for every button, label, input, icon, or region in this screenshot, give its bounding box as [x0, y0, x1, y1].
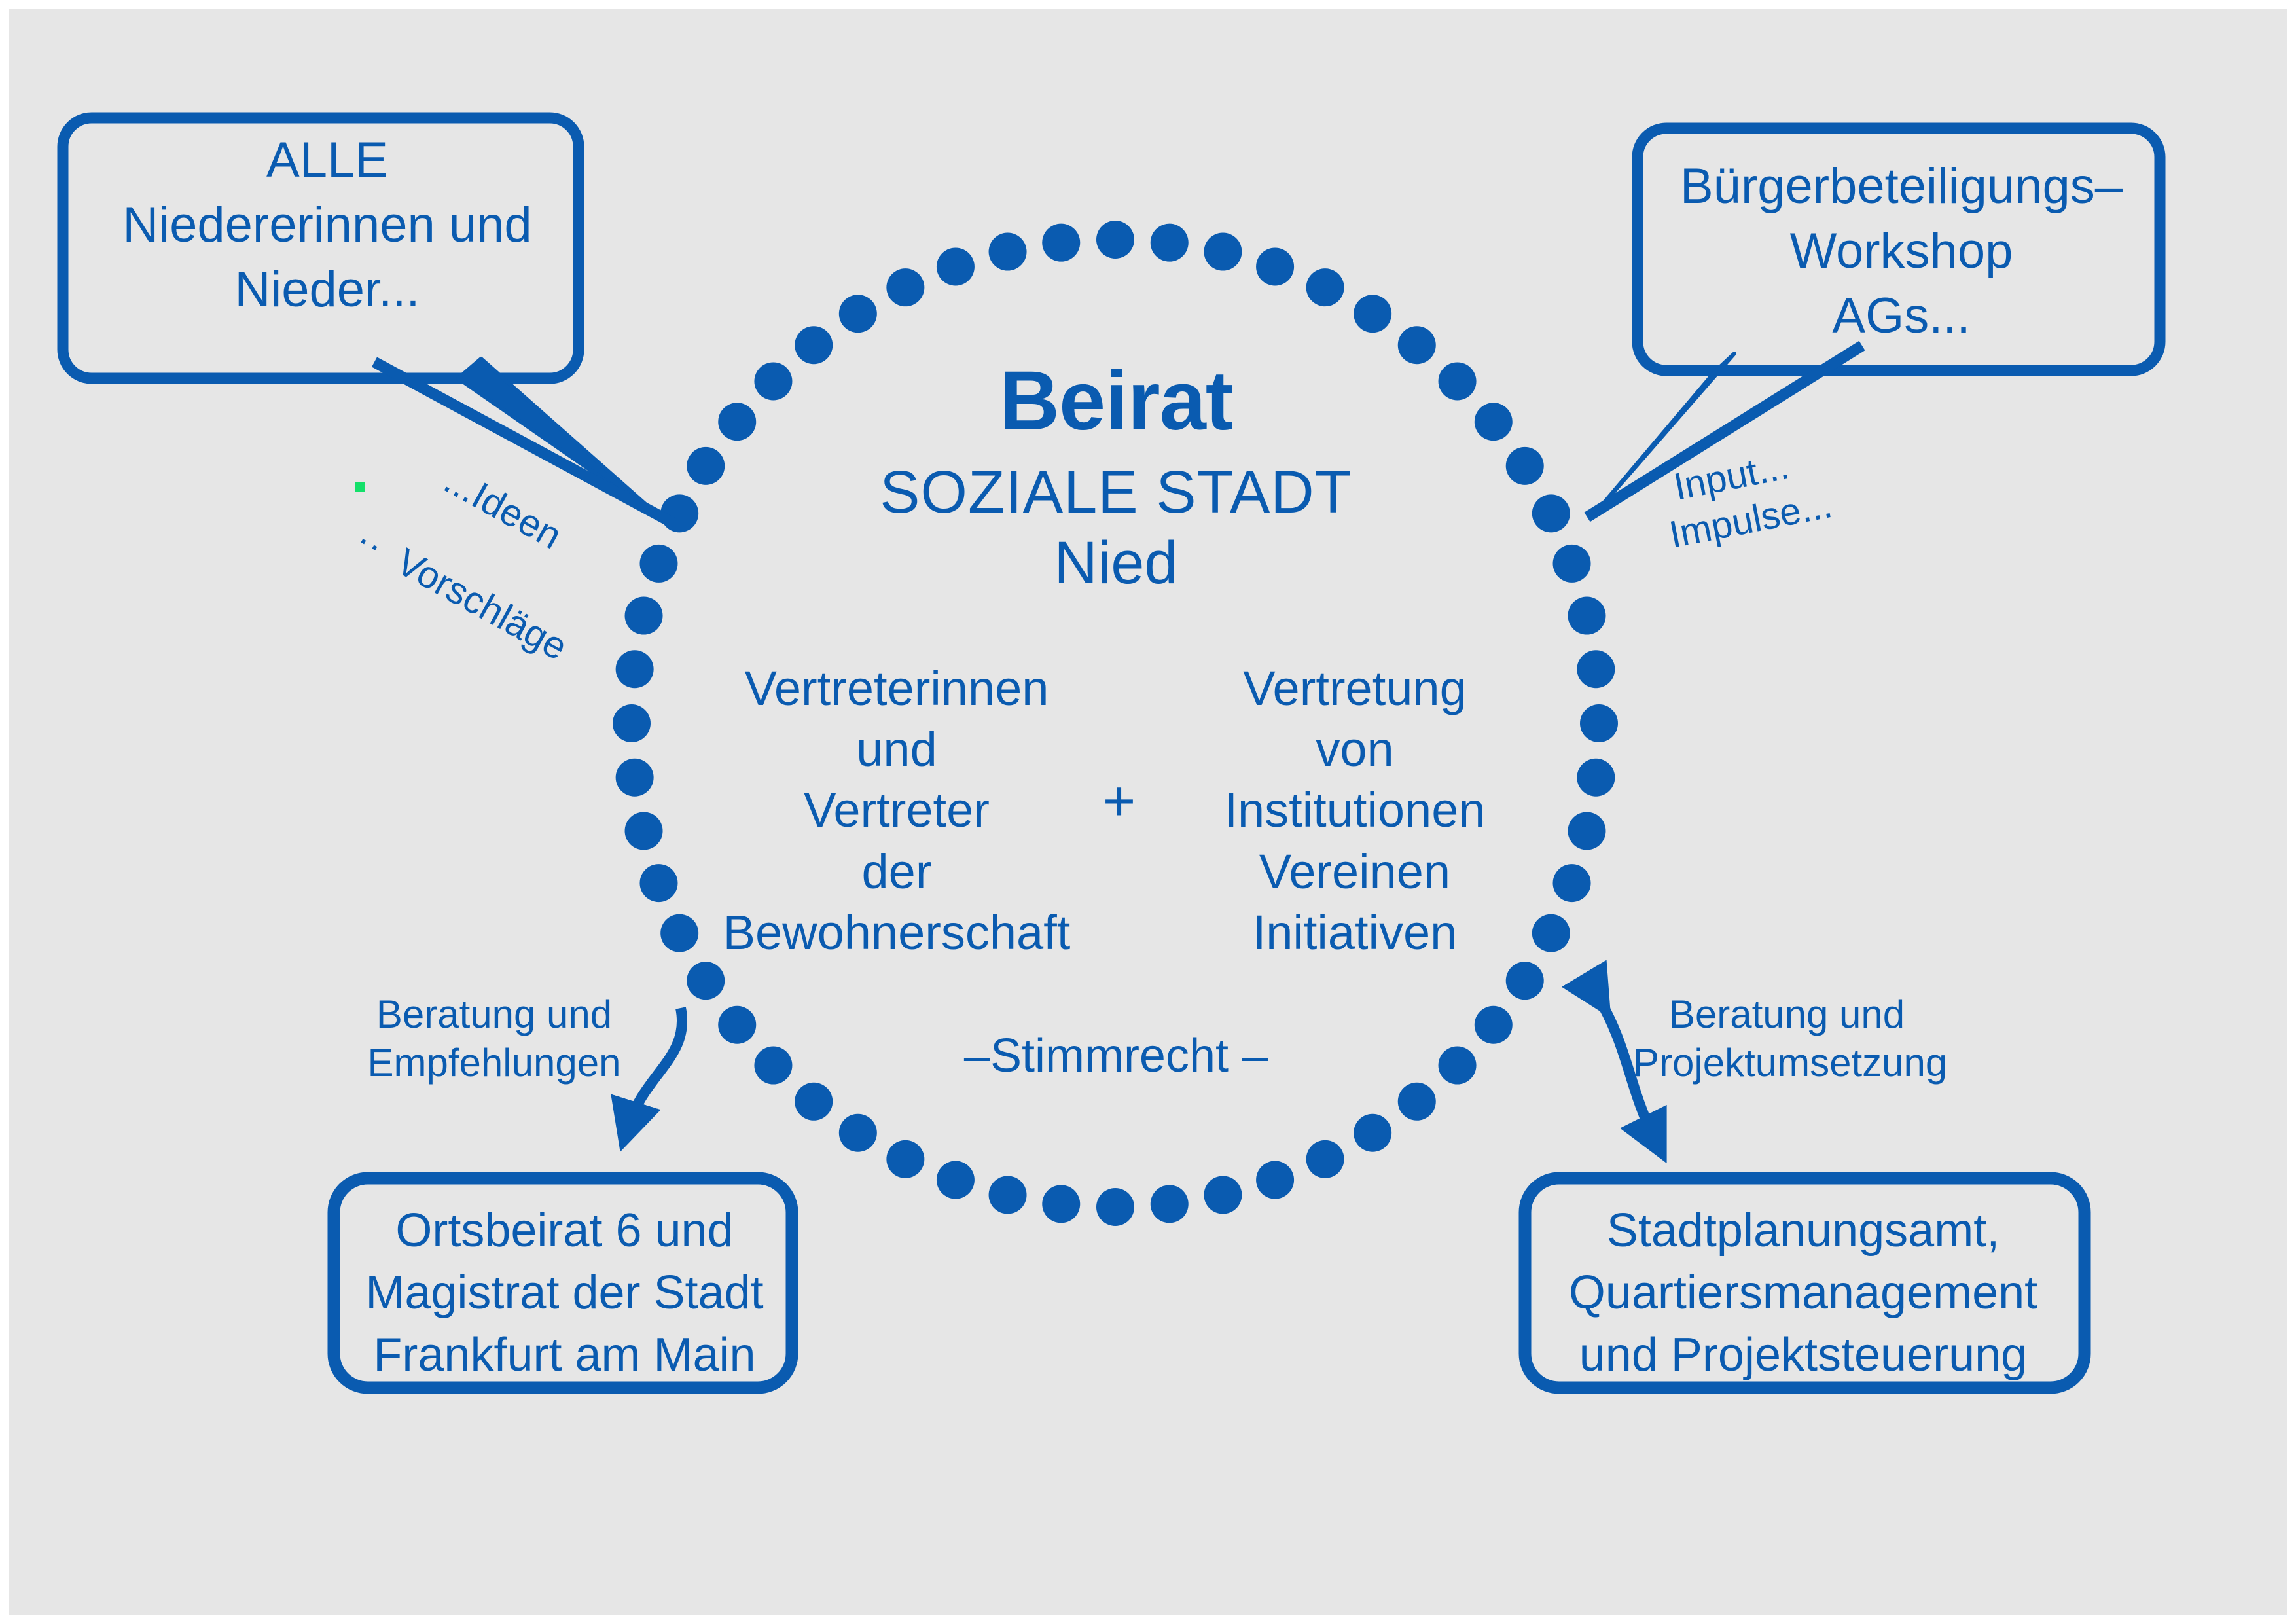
ring-dot	[886, 1140, 924, 1178]
bubble-top-left-label: ALLE Niedererinnen und Nieder...	[98, 128, 556, 322]
diagram-page: Beirat SOZIALE STADT Nied Vertreterinnen…	[0, 0, 2296, 1624]
ring-dot	[1096, 221, 1134, 259]
ring-dot	[1532, 494, 1570, 532]
ring-dot	[1439, 1047, 1477, 1085]
ring-dot	[1204, 1176, 1242, 1214]
center-title: Beirat	[756, 353, 1476, 449]
ring-dot	[625, 597, 663, 635]
ring-dot	[718, 403, 756, 441]
ring-dot	[616, 759, 654, 797]
arrow-beratung-empfehlungen	[628, 1008, 682, 1126]
ring-dot	[1256, 247, 1294, 285]
label-beratung-empfehlungen: Beratung und Empfehlungen	[357, 990, 632, 1088]
box-bottom-left-label: Ortsbeirat 6 und Magistrat der Stadt Fra…	[331, 1200, 798, 1386]
center-right-column: Vertretung von Institutionen Vereinen In…	[1178, 658, 1532, 963]
label-beratung-projektumsetzung: Beratung und Projektumsetzung	[1633, 990, 1941, 1088]
ring-dot	[639, 545, 677, 583]
ring-dot	[687, 962, 725, 1000]
ring-dot	[1398, 1083, 1436, 1121]
ring-dot	[1577, 759, 1615, 797]
ring-dot	[1506, 962, 1544, 1000]
ring-dot	[1577, 650, 1615, 688]
ring-dot	[886, 268, 924, 306]
ring-dot	[1553, 545, 1591, 583]
ring-dot	[1354, 295, 1391, 333]
ring-dot	[1580, 704, 1618, 742]
green-marker-dot	[355, 482, 365, 492]
ring-dot	[839, 295, 877, 333]
ring-dot	[1204, 233, 1242, 271]
ring-dot	[639, 864, 677, 902]
ring-dot	[1532, 914, 1570, 952]
ring-dot	[989, 233, 1027, 271]
ring-dot	[754, 1047, 792, 1085]
box-bottom-right-label: Stadtplanungsamt, Quartiersmanagement un…	[1525, 1200, 2081, 1386]
center-left-column: Vertreterinnen und Vertreter der Bewohne…	[694, 658, 1100, 963]
ring-dot	[1151, 1185, 1189, 1223]
ring-dot	[1475, 403, 1513, 441]
ring-dot	[937, 247, 975, 285]
ring-dot	[1568, 597, 1605, 635]
ring-dot	[718, 1006, 756, 1044]
center-place: Nied	[756, 529, 1476, 598]
ring-dot	[1096, 1188, 1134, 1226]
ring-dot	[625, 812, 663, 850]
center-stimmrecht-note: –Stimmrecht –	[887, 1029, 1345, 1083]
ring-dot	[613, 704, 651, 742]
ring-dot	[1568, 812, 1605, 850]
ring-dot	[795, 1083, 833, 1121]
ring-dot	[1475, 1006, 1513, 1044]
center-subtitle: SOZIALE STADT	[756, 458, 1476, 527]
ring-dot	[1306, 268, 1344, 306]
ring-dot	[989, 1176, 1027, 1214]
ring-dot	[1256, 1161, 1294, 1199]
ring-dot	[1042, 1185, 1080, 1223]
ring-dot	[937, 1161, 975, 1199]
ring-dot	[1506, 447, 1544, 485]
ring-dot	[1553, 864, 1591, 902]
ring-dot	[1042, 224, 1080, 262]
ring-dot	[660, 914, 698, 952]
ring-dot	[1306, 1140, 1344, 1178]
ring-dot	[1354, 1114, 1391, 1152]
bubble-top-right-label: Bürgerbeteiligungs– Workshop AGs...	[1672, 154, 2130, 348]
ring-dot	[616, 650, 654, 688]
ring-dot	[687, 447, 725, 485]
ring-dot	[1151, 224, 1189, 262]
center-plus-symbol: +	[1080, 769, 1158, 834]
ring-dot	[839, 1114, 877, 1152]
